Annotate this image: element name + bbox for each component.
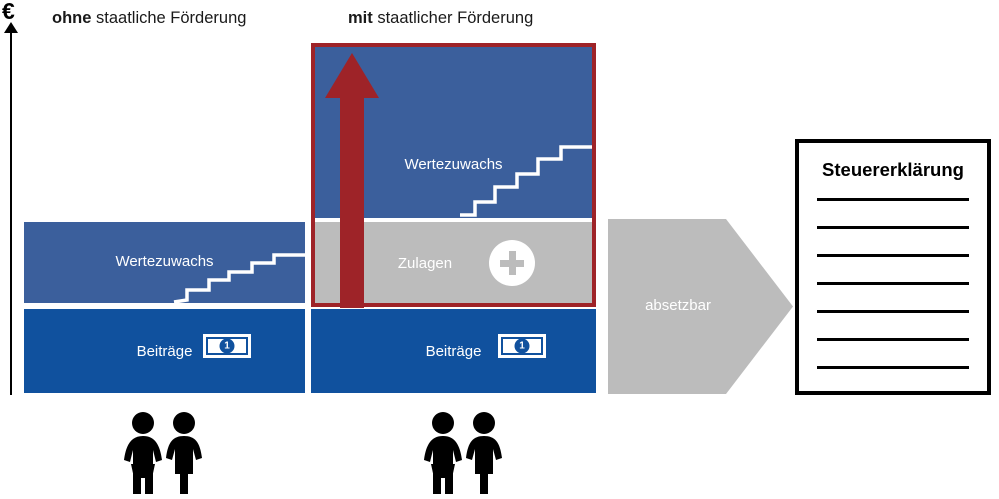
sheet-line [817, 254, 969, 257]
red-up-arrow-icon [325, 53, 379, 98]
banknote-icon: 1 [495, 331, 549, 361]
banknote-icon: 1 [200, 331, 254, 361]
value-axis [10, 30, 12, 395]
heading-with-subsidy-emphasis: mit [348, 9, 373, 27]
heading-without-subsidy-emphasis: ohne [52, 9, 91, 27]
bar-label-contributions-without-subsidy: Beiträge [24, 344, 305, 359]
plus-circle-icon [489, 240, 535, 286]
heading-with-subsidy-rest: staatlicher Förderung [373, 9, 534, 27]
sheet-line [817, 282, 969, 285]
bar-segment-contributions-without-subsidy: Beiträge [24, 309, 305, 393]
sheet-line [817, 226, 969, 229]
diagram-canvas: € ohne staatliche Förderung mit staatlic… [0, 0, 999, 499]
tax-declaration-title: Steuererklärung [799, 161, 987, 180]
sheet-line [817, 310, 969, 313]
couple-pictogram [118, 412, 214, 494]
banknote-coin-value: 1 [515, 339, 530, 354]
couple-pictogram [418, 412, 514, 494]
deductible-label: absetzbar [608, 298, 748, 313]
euro-axis-symbol: € [2, 0, 15, 23]
bar-label-contributions-with-subsidy: Beiträge [311, 344, 596, 359]
sheet-line [817, 198, 969, 201]
heading-with-subsidy: mit staatlicher Förderung [348, 10, 533, 27]
sheet-line [817, 366, 969, 369]
bar-segment-growth-without-subsidy: Wertezuwachs [24, 222, 305, 306]
tax-declaration-sheet: Steuererklärung [795, 139, 991, 395]
sheet-line [817, 338, 969, 341]
heading-without-subsidy-rest: staatliche Förderung [91, 9, 246, 27]
heading-without-subsidy: ohne staatliche Förderung [52, 10, 246, 27]
tax-declaration-lines [817, 198, 969, 377]
banknote-coin-value: 1 [220, 339, 235, 354]
bar-label-growth-without-subsidy: Wertezuwachs [24, 254, 305, 269]
bar-segment-contributions-with-subsidy: Beiträge [311, 309, 596, 393]
red-up-arrow-shaft [340, 95, 364, 308]
